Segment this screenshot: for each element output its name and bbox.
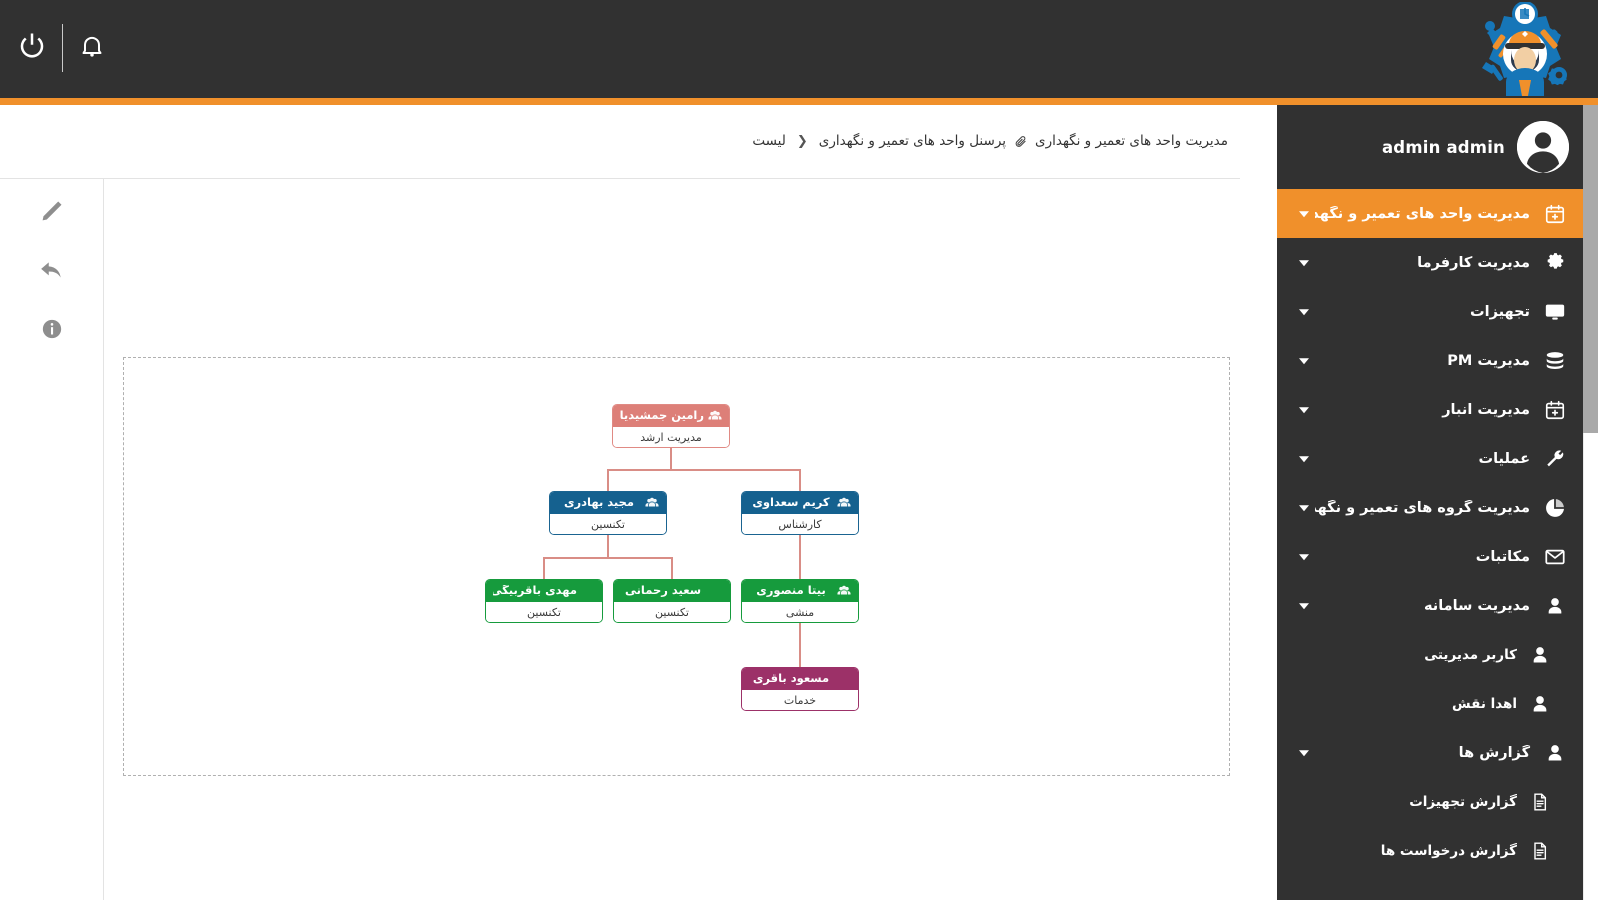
- sidebar-item-5[interactable]: عملیات: [1277, 434, 1583, 483]
- sidebar-item-8[interactable]: مدیریت سامانه: [1277, 581, 1583, 630]
- org-node-header: مسعود باقری: [742, 668, 858, 690]
- info-icon[interactable]: [34, 313, 70, 345]
- database-icon: [1540, 346, 1570, 376]
- sidebar-nav: مدیریت واحد های تعمیر و نگهداریمدیریت کا…: [1277, 189, 1583, 875]
- org-node-role: تکنسین: [486, 602, 602, 622]
- icon-placeholder: [581, 584, 595, 598]
- org-node[interactable]: رامین جمشیدیانمدیریت ارشد: [612, 404, 730, 448]
- org-node-name: بیتا منصوری: [749, 585, 833, 597]
- sidebar-item-label: مکاتبات: [1315, 549, 1540, 565]
- users-group-icon: [645, 496, 659, 510]
- users-group-icon: [708, 409, 722, 423]
- chevron-down-icon[interactable]: [1293, 208, 1315, 220]
- side-toolbar: [0, 178, 104, 900]
- user-icon: [1540, 738, 1570, 768]
- calendar-plus-icon: [1540, 395, 1570, 425]
- sidebar-item-13[interactable]: گزارش درخواست ها: [1277, 826, 1583, 875]
- sidebar-item-label: مدیریت واحد های تعمیر و نگهداری: [1315, 206, 1540, 222]
- brand-logo[interactable]: [1470, 2, 1580, 96]
- topbar-divider: [62, 24, 63, 72]
- connector-vertical: [543, 557, 545, 579]
- org-node-role: کارشناس: [742, 514, 858, 534]
- sidebar-item-7[interactable]: مکاتبات: [1277, 532, 1583, 581]
- org-node-role: مدیریت ارشد: [613, 427, 729, 447]
- chevron-down-icon[interactable]: [1293, 257, 1315, 269]
- sidebar: admin admin مدیریت واحد های تعمیر و نگهد…: [1277, 105, 1583, 900]
- paperclip-icon: [1014, 135, 1027, 148]
- user-icon: [1527, 640, 1553, 670]
- document-icon: [1527, 836, 1553, 866]
- user-profile-block[interactable]: admin admin: [1277, 105, 1583, 189]
- sidebar-item-11[interactable]: گزارش ها: [1277, 728, 1583, 777]
- sidebar-item-label: مدیریت کارفرما: [1315, 255, 1540, 271]
- chevron-down-icon[interactable]: [1293, 502, 1315, 514]
- sidebar-item-label: عملیات: [1315, 451, 1540, 467]
- users-group-icon: [837, 496, 851, 510]
- connector-horizontal: [607, 469, 801, 471]
- org-node[interactable]: مهدی باقربیگیتکنسین: [485, 579, 603, 623]
- chevron-down-icon[interactable]: [1293, 355, 1315, 367]
- pie-chart-icon: [1540, 493, 1570, 523]
- org-node[interactable]: سعید رحمانیتکنسین: [613, 579, 731, 623]
- sidebar-item-label: مدیریت گروه های تعمیر و نگهداری: [1315, 500, 1540, 516]
- org-node[interactable]: بیتا منصوریمنشی: [741, 579, 859, 623]
- sidebar-item-label: گزارش درخواست ها: [1315, 843, 1527, 859]
- org-node-header: مجید بهادری: [550, 492, 666, 514]
- user-name: admin admin: [1382, 138, 1505, 157]
- org-chart-area: رامین جمشیدیانمدیریت ارشدمجید بهادریتکنس…: [104, 178, 1240, 900]
- connector-vertical: [799, 533, 801, 557]
- power-icon[interactable]: [14, 26, 50, 66]
- document-icon: [1527, 787, 1553, 817]
- org-node-role: منشی: [742, 602, 858, 622]
- users-group-icon: [837, 584, 851, 598]
- edit-pencil-icon[interactable]: [34, 195, 70, 227]
- sidebar-item-label: مدیریت سامانه: [1315, 598, 1540, 614]
- chevron-down-icon[interactable]: [1293, 600, 1315, 612]
- connector-vertical: [607, 469, 609, 491]
- icon-placeholder: [837, 672, 851, 686]
- sidebar-item-label: مدیریت PM: [1315, 353, 1540, 369]
- connector-vertical: [799, 557, 801, 579]
- envelope-icon: [1540, 542, 1570, 572]
- accent-bar: [0, 98, 1598, 105]
- sidebar-item-4[interactable]: مدیریت انبار: [1277, 385, 1583, 434]
- org-node-header: بیتا منصوری: [742, 580, 858, 602]
- sidebar-item-10[interactable]: اهدا نقش: [1277, 679, 1583, 728]
- org-node-header: رامین جمشیدیان: [613, 405, 729, 427]
- user-icon: [1540, 591, 1570, 621]
- undo-arrow-icon[interactable]: [34, 254, 70, 286]
- org-node-name: مهدی باقربیگی: [493, 585, 577, 597]
- org-node-name: مسعود باقری: [749, 673, 833, 685]
- sidebar-item-6[interactable]: مدیریت گروه های تعمیر و نگهداری: [1277, 483, 1583, 532]
- org-node-name: سعید رحمانی: [621, 585, 705, 597]
- connector-vertical: [607, 533, 609, 557]
- breadcrumb-current: لیست: [752, 133, 786, 149]
- user-icon: [1527, 689, 1553, 719]
- sidebar-item-label: اهدا نقش: [1315, 696, 1527, 712]
- calendar-plus-icon: [1540, 199, 1570, 229]
- org-node-name: کریم سعداوی: [749, 497, 833, 509]
- icon-placeholder: [709, 584, 723, 598]
- sidebar-item-label: کاربر مدیریتی: [1315, 647, 1527, 663]
- sidebar-item-label: تجهیزات: [1315, 304, 1540, 320]
- org-node-name: رامین جمشیدیان: [620, 410, 704, 422]
- org-node-role: خدمات: [742, 690, 858, 710]
- connector-vertical: [799, 469, 801, 491]
- sidebar-item-2[interactable]: تجهیزات: [1277, 287, 1583, 336]
- chevron-down-icon[interactable]: [1293, 404, 1315, 416]
- gear-icon: [1540, 248, 1570, 278]
- chevron-down-icon[interactable]: [1293, 551, 1315, 563]
- sidebar-item-label: مدیریت انبار: [1315, 402, 1540, 418]
- chevron-down-icon[interactable]: [1293, 306, 1315, 318]
- breadcrumb-separator: ❮: [794, 134, 811, 149]
- sidebar-item-label: گزارش ها: [1315, 745, 1540, 761]
- org-node-header: سعید رحمانی: [614, 580, 730, 602]
- org-node-name: مجید بهادری: [557, 497, 641, 509]
- bell-icon[interactable]: [74, 26, 110, 66]
- org-node-header: مهدی باقربیگی: [486, 580, 602, 602]
- org-node-role: تکنسین: [614, 602, 730, 622]
- connector-vertical: [799, 621, 801, 645]
- chevron-down-icon[interactable]: [1293, 747, 1315, 759]
- avatar: [1517, 121, 1569, 173]
- sidebar-item-1[interactable]: مدیریت کارفرما: [1277, 238, 1583, 287]
- sidebar-item-9[interactable]: کاربر مدیریتی: [1277, 630, 1583, 679]
- sidebar-item-0[interactable]: مدیریت واحد های تعمیر و نگهداری: [1277, 189, 1583, 238]
- connector-horizontal: [543, 557, 673, 559]
- sidebar-item-3[interactable]: مدیریت PM: [1277, 336, 1583, 385]
- breadcrumb-section[interactable]: پرسنل واحد های تعمیر و نگهداری: [819, 133, 1006, 149]
- connector-vertical: [671, 557, 673, 579]
- breadcrumb-root[interactable]: مدیریت واحد های تعمیر و نگهداری: [1035, 133, 1228, 149]
- breadcrumb: مدیریت واحد های تعمیر و نگهداری پرسنل وا…: [752, 133, 1228, 149]
- monitor-icon: [1540, 297, 1570, 327]
- org-node[interactable]: کریم سعداویکارشناس: [741, 491, 859, 535]
- top-bar: [0, 0, 1598, 98]
- org-node[interactable]: مجید بهادریتکنسین: [549, 491, 667, 535]
- connector-vertical: [799, 645, 801, 667]
- wrench-icon: [1540, 444, 1570, 474]
- page-scrollbar-thumb[interactable]: [1583, 105, 1598, 433]
- chevron-down-icon[interactable]: [1293, 453, 1315, 465]
- org-node-header: کریم سعداوی: [742, 492, 858, 514]
- org-node[interactable]: مسعود باقریخدمات: [741, 667, 859, 711]
- connector-vertical: [670, 446, 672, 469]
- page-scrollbar[interactable]: [1583, 105, 1598, 900]
- main-content: مدیریت واحد های تعمیر و نگهداری پرسنل وا…: [0, 105, 1240, 900]
- org-node-role: تکنسین: [550, 514, 666, 534]
- sidebar-item-label: گزارش تجهیزات: [1315, 794, 1527, 810]
- sidebar-item-12[interactable]: گزارش تجهیزات: [1277, 777, 1583, 826]
